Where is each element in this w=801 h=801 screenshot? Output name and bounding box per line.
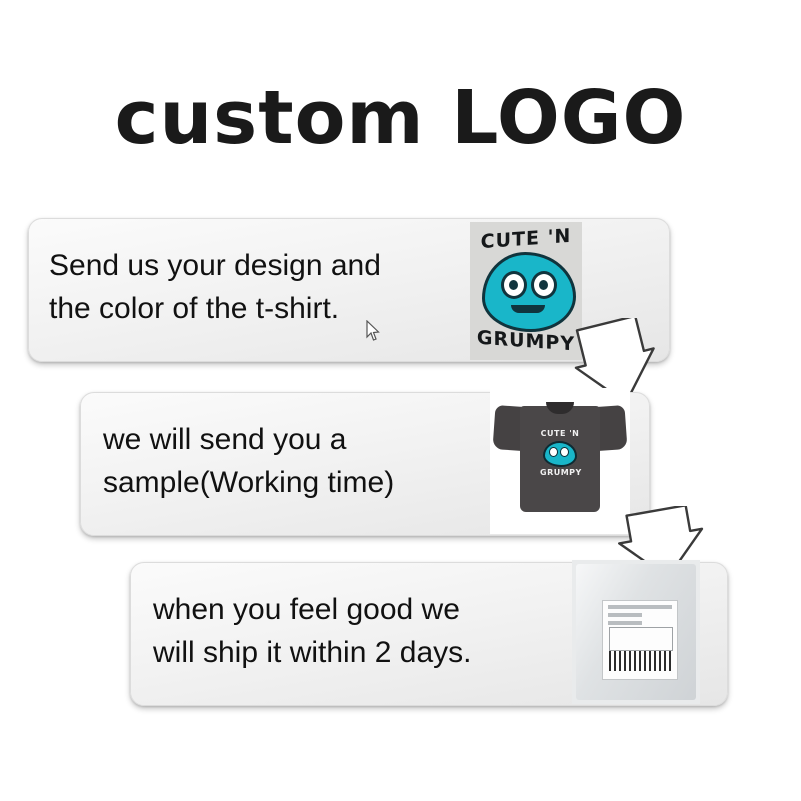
monster-eye-left-icon: [501, 271, 527, 299]
logo-text-top: CUTE 'N: [470, 224, 582, 254]
tshirt-print-text-top: CUTE 'N: [540, 430, 580, 439]
custom-logo-infographic: custom LOGO Send us your design and the …: [0, 0, 801, 801]
step-1-text: Send us your design and the color of the…: [49, 245, 479, 330]
mouse-cursor: [366, 320, 380, 342]
tshirt-print-text-bottom: GRUMPY: [540, 469, 580, 478]
tshirt-monster-face-icon: [543, 441, 577, 467]
page-title: custom LOGO: [0, 78, 801, 159]
monster-eye-right-icon: [531, 271, 557, 299]
step-3-text: when you feel good we will ship it withi…: [153, 589, 583, 674]
barcode-icon: [609, 651, 671, 671]
poly-mailer-bag: [576, 564, 696, 700]
tshirt-print-area: CUTE 'N GRUMPY: [540, 430, 580, 478]
shipping-package-image: [572, 560, 700, 704]
step-2-text: we will send you a sample(Working time): [103, 419, 513, 504]
monster-mouth-icon: [511, 305, 545, 313]
shipping-label: [602, 600, 678, 680]
